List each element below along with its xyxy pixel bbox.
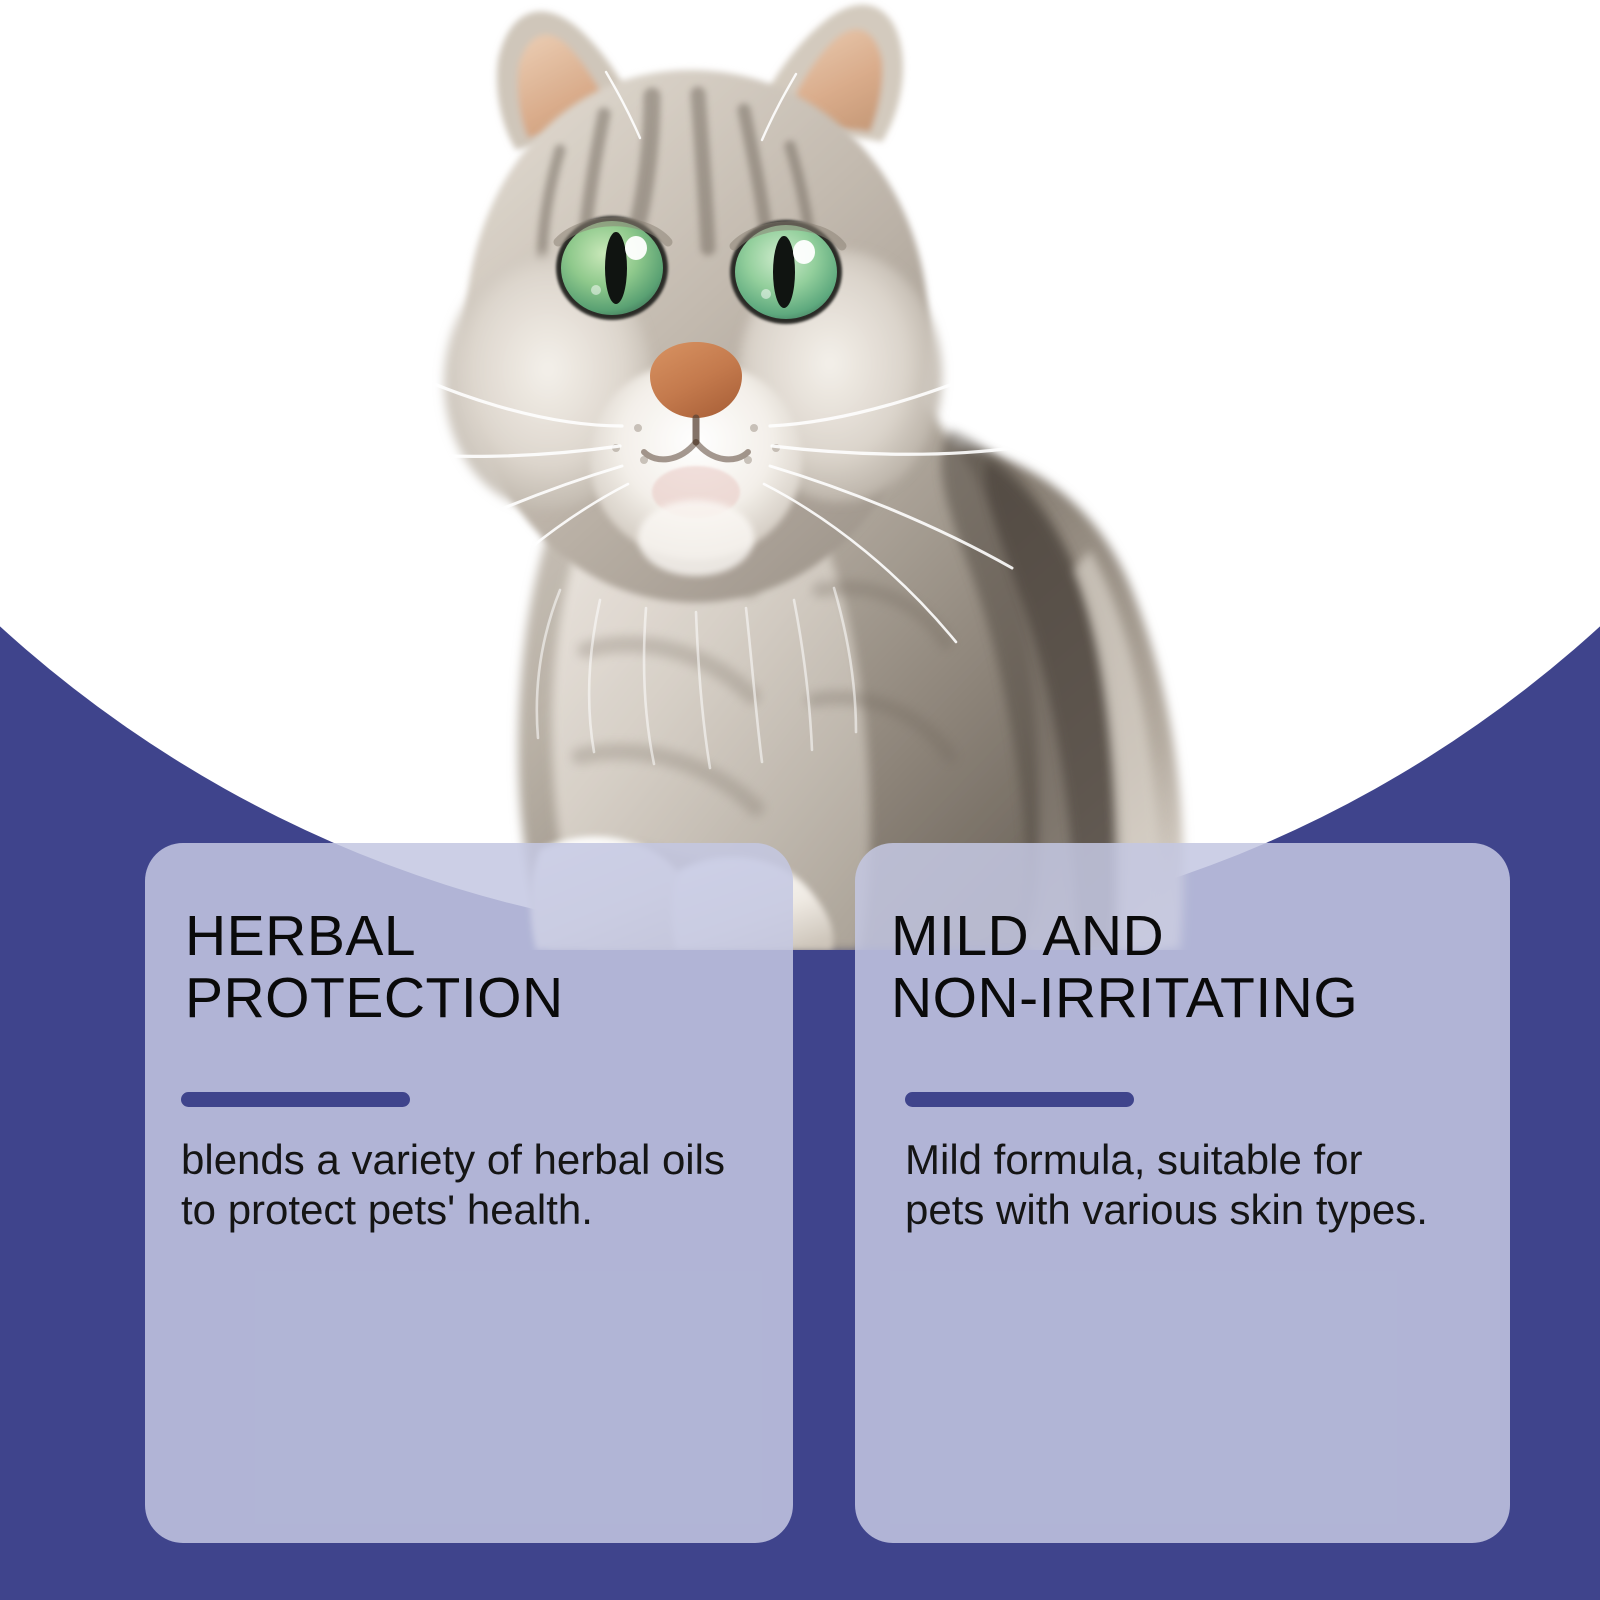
card-body-text: Mild formula, suitable for pets with var…: [905, 1135, 1450, 1235]
card-content: HERBAL PROTECTION blends a variety of he…: [145, 843, 793, 1543]
poster-canvas: HERBAL PROTECTION blends a variety of he…: [0, 0, 1600, 1600]
card-title: MILD AND NON-IRRITATING: [891, 905, 1358, 1029]
card-divider-bar: [181, 1092, 410, 1107]
card-divider-bar: [905, 1092, 1134, 1107]
card-title: HERBAL PROTECTION: [185, 905, 564, 1029]
feature-card-herbal-protection[interactable]: HERBAL PROTECTION blends a variety of he…: [145, 843, 793, 1543]
card-content: MILD AND NON-IRRITATING Mild formula, su…: [855, 843, 1510, 1543]
hero-cat-image: [390, 0, 1210, 950]
card-body-text: blends a variety of herbal oils to prote…: [181, 1135, 741, 1235]
feature-card-mild-and-non-irritating[interactable]: MILD AND NON-IRRITATING Mild formula, su…: [855, 843, 1510, 1543]
